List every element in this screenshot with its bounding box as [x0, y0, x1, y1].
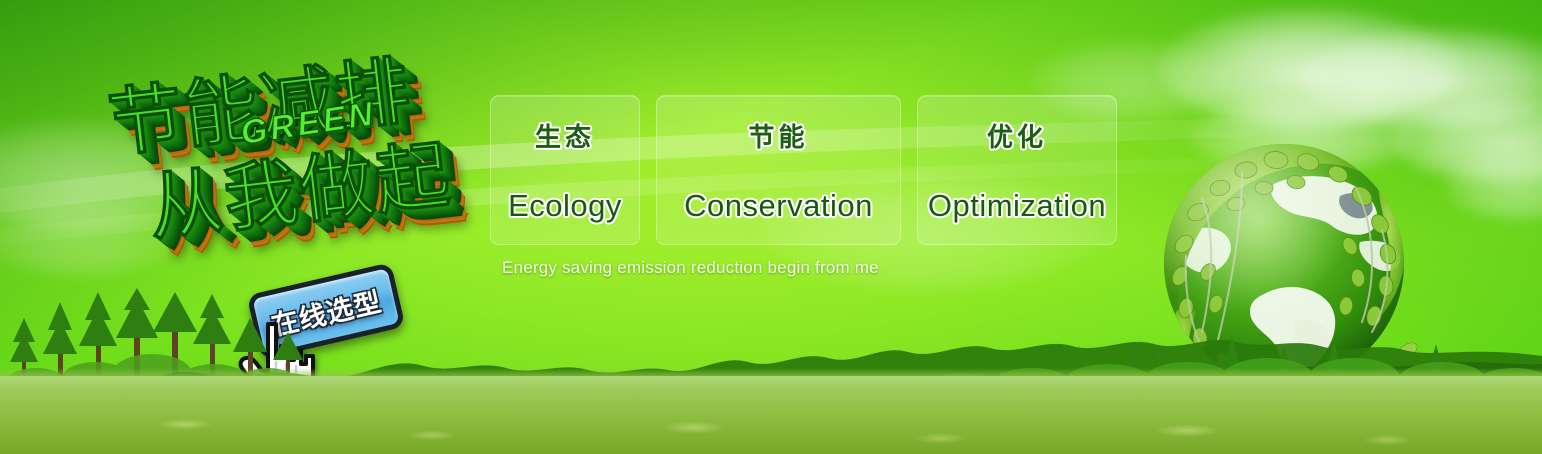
cloud-icon	[0, 120, 220, 230]
tagline: Energy saving emission reduction begin f…	[502, 258, 879, 278]
cloud-icon	[1444, 150, 1542, 220]
headline-line-1: 节能减排	[102, 31, 416, 172]
cloud-icon	[1390, 96, 1542, 182]
feature-card-en-label: Ecology	[508, 188, 622, 224]
grass-field-icon	[0, 376, 1542, 454]
tree-icon	[0, 332, 1542, 402]
ivy-covered-globe-icon	[1146, 126, 1422, 416]
green-energy-banner: 节能减排 GREEN 从我做起 在线选型 生态 Ecology 节能 Conse…	[0, 0, 1542, 454]
feature-card-cn-label: 节能	[748, 117, 808, 154]
headline: 节能减排 GREEN 从我做起	[84, 18, 508, 297]
grass-horizon	[0, 368, 1542, 382]
feature-card-en-label: Optimization	[928, 188, 1106, 224]
feature-card-cn-label: 优化	[987, 117, 1047, 154]
feature-cards: 生态 Ecology 节能 Conservation 优化 Optimizati…	[490, 95, 1117, 245]
cloud-icon	[1160, 8, 1460, 128]
cloud-icon	[1188, 96, 1418, 174]
online-selection-button[interactable]: 在线选型	[246, 262, 405, 360]
feature-card-cn-label: 生态	[535, 117, 595, 154]
tree-icon	[902, 324, 1542, 396]
cta-button-label: 在线选型	[246, 262, 405, 360]
cloud-icon	[1300, 28, 1542, 128]
feature-card-optimization[interactable]: 优化 Optimization	[917, 95, 1117, 245]
headline-overlay-green: GREEN	[238, 95, 378, 154]
feature-card-ecology[interactable]: 生态 Ecology	[490, 95, 640, 245]
feature-card-conservation[interactable]: 节能 Conservation	[656, 95, 901, 245]
feature-card-en-label: Conservation	[684, 188, 873, 224]
cloud-icon	[0, 196, 180, 276]
headline-line-2: 从我做起	[142, 115, 456, 256]
